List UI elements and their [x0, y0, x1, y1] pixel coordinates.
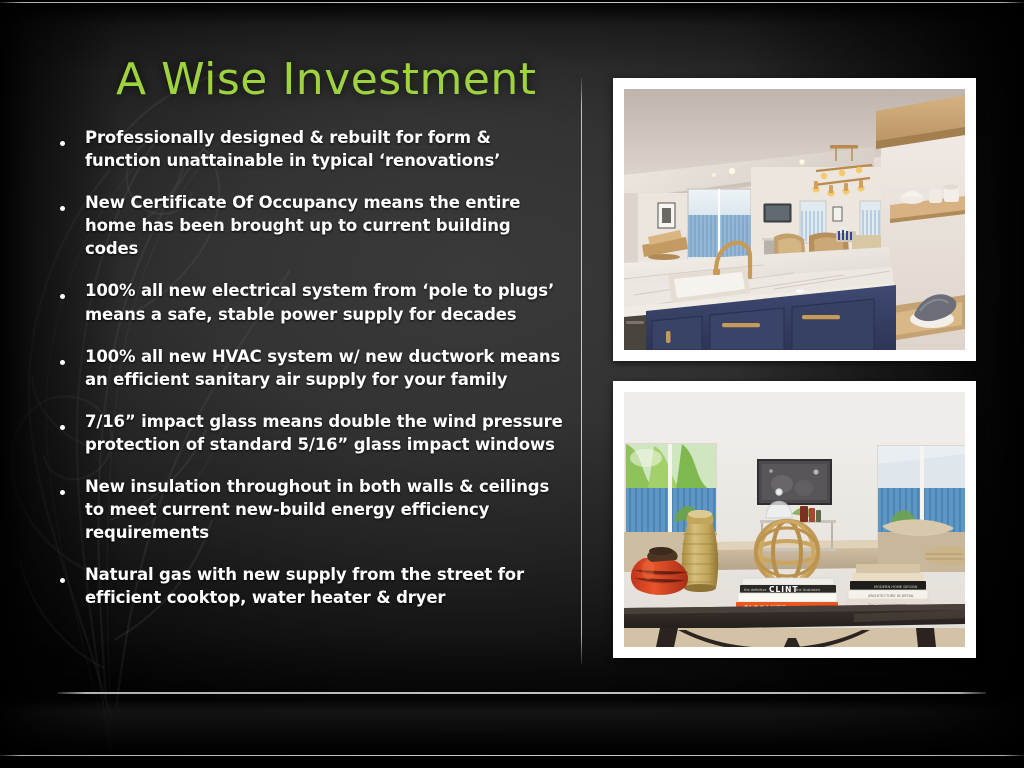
bullet-text: 100% all new HVAC system w/ new ductwork…	[85, 345, 564, 391]
slide-frame-top	[0, 2, 1024, 3]
vertical-divider	[581, 78, 582, 664]
list-item: 7/16” impact glass means double the wind…	[52, 410, 564, 456]
bullet-text: 100% all new electrical system from ‘pol…	[85, 279, 564, 325]
photo-console-image: CLINT the definitive the illustrated ELE…	[624, 392, 965, 647]
bullet-point-icon	[52, 410, 85, 435]
photo-console: CLINT the definitive the illustrated ELE…	[613, 381, 976, 658]
page-title: A Wise Investment	[116, 56, 537, 104]
svg-text:CLINT: CLINT	[769, 585, 798, 594]
list-item: Professionally designed & rebuilt for fo…	[52, 126, 564, 172]
list-item: New Certificate Of Occupancy means the e…	[52, 191, 564, 260]
bullet-point-icon	[52, 191, 85, 216]
bullet-point-icon	[52, 279, 85, 304]
list-item: New insulation throughout in both walls …	[52, 475, 564, 544]
list-item: 100% all new HVAC system w/ new ductwork…	[52, 345, 564, 391]
bullet-point-icon	[52, 563, 85, 588]
bullet-text: New Certificate Of Occupancy means the e…	[85, 191, 564, 260]
list-item: 100% all new electrical system from ‘pol…	[52, 279, 564, 325]
list-item: Natural gas with new supply from the str…	[52, 563, 564, 609]
horizontal-divider	[58, 692, 986, 694]
bullet-text: New insulation throughout in both walls …	[85, 475, 564, 544]
bullet-point-icon	[52, 126, 85, 151]
bullet-list: Professionally designed & rebuilt for fo…	[52, 126, 564, 629]
bullet-text: 7/16” impact glass means double the wind…	[85, 410, 564, 456]
bullet-point-icon	[52, 345, 85, 370]
photo-kitchen	[613, 78, 976, 361]
bullet-text: Professionally designed & rebuilt for fo…	[85, 126, 564, 172]
bullet-text: Natural gas with new supply from the str…	[85, 563, 564, 609]
slide-frame-bottom	[0, 755, 1024, 756]
photo-kitchen-image	[624, 89, 965, 350]
svg-text:ARCHITECTURE IN DETAIL: ARCHITECTURE IN DETAIL	[868, 594, 914, 598]
slide-canvas: A Wise Investment Professionally designe…	[0, 0, 1024, 768]
bullet-point-icon	[52, 475, 85, 500]
svg-text:the definitive: the definitive	[744, 588, 766, 592]
svg-text:MODERN HOME DESIGN: MODERN HOME DESIGN	[874, 585, 918, 589]
svg-text:the illustrated: the illustrated	[796, 588, 820, 592]
